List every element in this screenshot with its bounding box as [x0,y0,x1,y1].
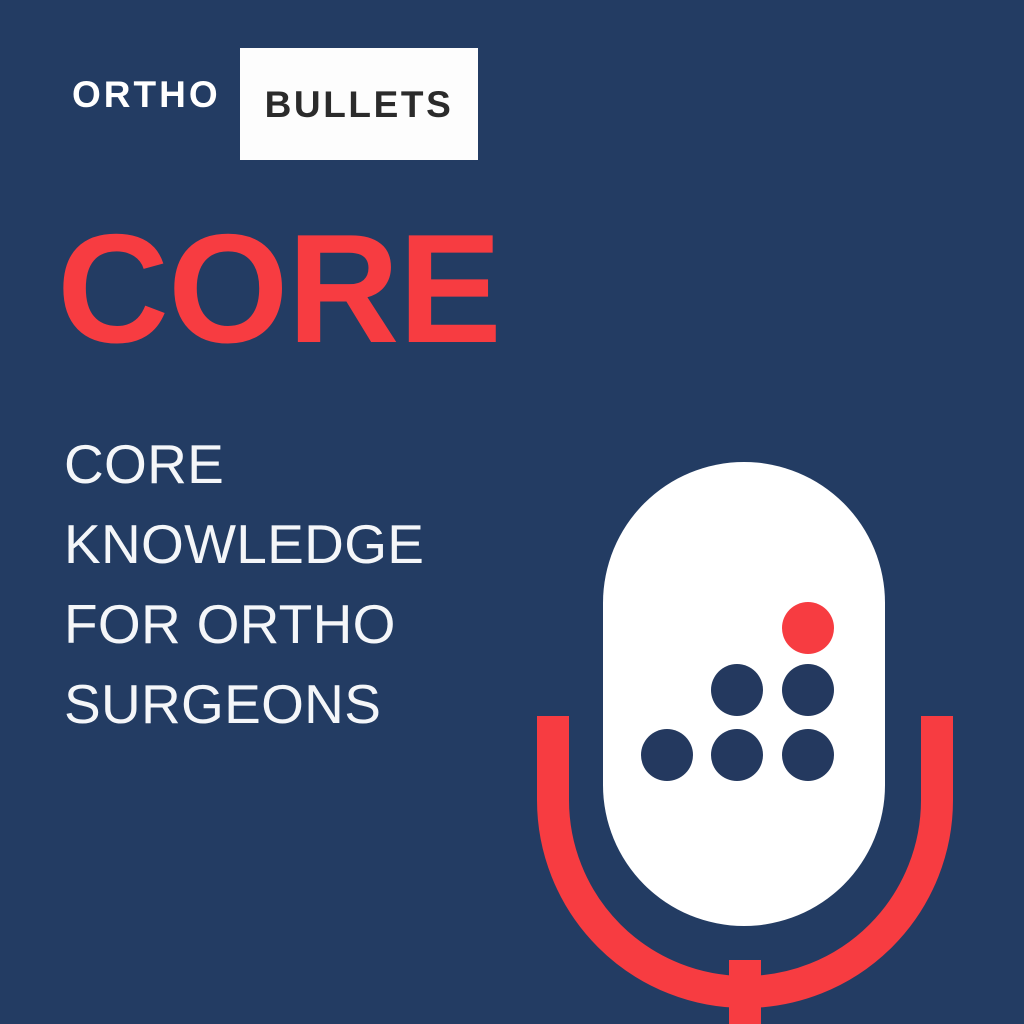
tagline-line-4: SURGEONS [64,664,504,744]
tagline-line-3: FOR ORTHO [64,584,504,664]
mic-dot-bottom-center [711,729,763,781]
mic-dot-mid-left [711,664,763,716]
mic-dot-bottom-right [782,729,834,781]
mic-accent-dot [782,602,834,654]
podcast-cover-artwork: ORTHO BULLETS CORE CORE KNOWLEDGE FOR OR… [0,0,1024,1024]
microphone-icon [500,440,1000,1024]
mic-stand-stem [729,960,761,1024]
tagline-line-2: KNOWLEDGE [64,504,504,584]
brand-word-bullets: BULLETS [240,48,478,160]
tagline: CORE KNOWLEDGE FOR ORTHO SURGEONS [64,424,504,744]
brand-word-ortho: ORTHO [72,76,221,113]
brand-lockup: ORTHO BULLETS [0,48,1024,160]
mic-dot-mid-right [782,664,834,716]
show-title: CORE [57,211,501,366]
microphone-illustration [500,440,1000,1024]
brand-word-bullets-box: BULLETS [240,48,478,160]
tagline-line-1: CORE [64,424,504,504]
mic-dot-bottom-left [641,729,693,781]
